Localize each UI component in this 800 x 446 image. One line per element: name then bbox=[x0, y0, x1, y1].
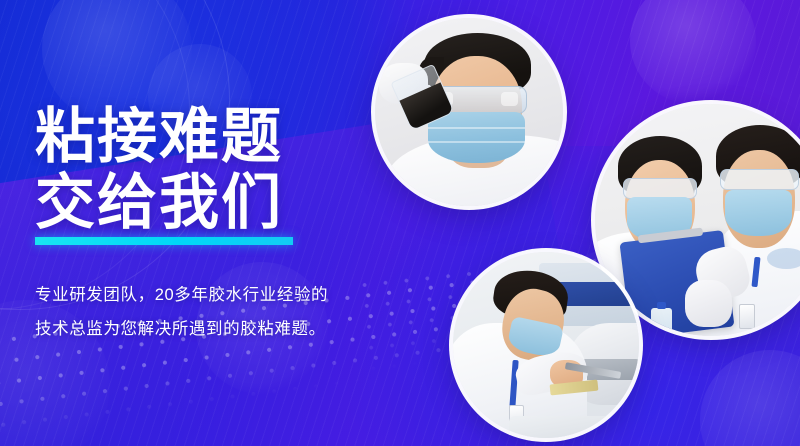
coat-chest-logo bbox=[767, 248, 800, 269]
headline-line-2: 交给我们 bbox=[35, 170, 375, 236]
subtitle-line-1: 专业研发团队，20多年胶水行业经验的 bbox=[35, 278, 328, 312]
face-mask bbox=[428, 112, 526, 163]
equipment-screen bbox=[557, 282, 631, 306]
gloved-hand-lower bbox=[685, 280, 731, 326]
headline-block: 粘接难题 交给我们 bbox=[35, 104, 375, 236]
glove-finger bbox=[386, 71, 391, 76]
photo-technician-at-equipment bbox=[453, 252, 639, 438]
headline-line-1: 粘接难题 bbox=[35, 104, 375, 170]
subtitle-line-2: 技术总监为您解决所遇到的胶粘难题。 bbox=[35, 312, 328, 346]
subtitle-block: 专业研发团队，20多年胶水行业经验的 技术总监为您解决所遇到的胶粘难题。 bbox=[35, 278, 328, 346]
reagent-bottle bbox=[651, 308, 672, 336]
glow-circle-3 bbox=[630, 0, 756, 104]
work-tray bbox=[509, 416, 624, 438]
promo-banner: 粘接难题 交给我们 专业研发团队，20多年胶水行业经验的 技术总监为您解决所遇到… bbox=[0, 0, 800, 446]
safety-goggles-left bbox=[623, 178, 697, 199]
id-badge bbox=[739, 304, 755, 330]
safety-goggles-right bbox=[720, 169, 799, 190]
glow-circle-5 bbox=[700, 350, 800, 446]
headline-underline-accent bbox=[35, 237, 293, 245]
face-mask-right bbox=[725, 190, 792, 236]
photo-scientist-with-flask bbox=[375, 18, 563, 206]
